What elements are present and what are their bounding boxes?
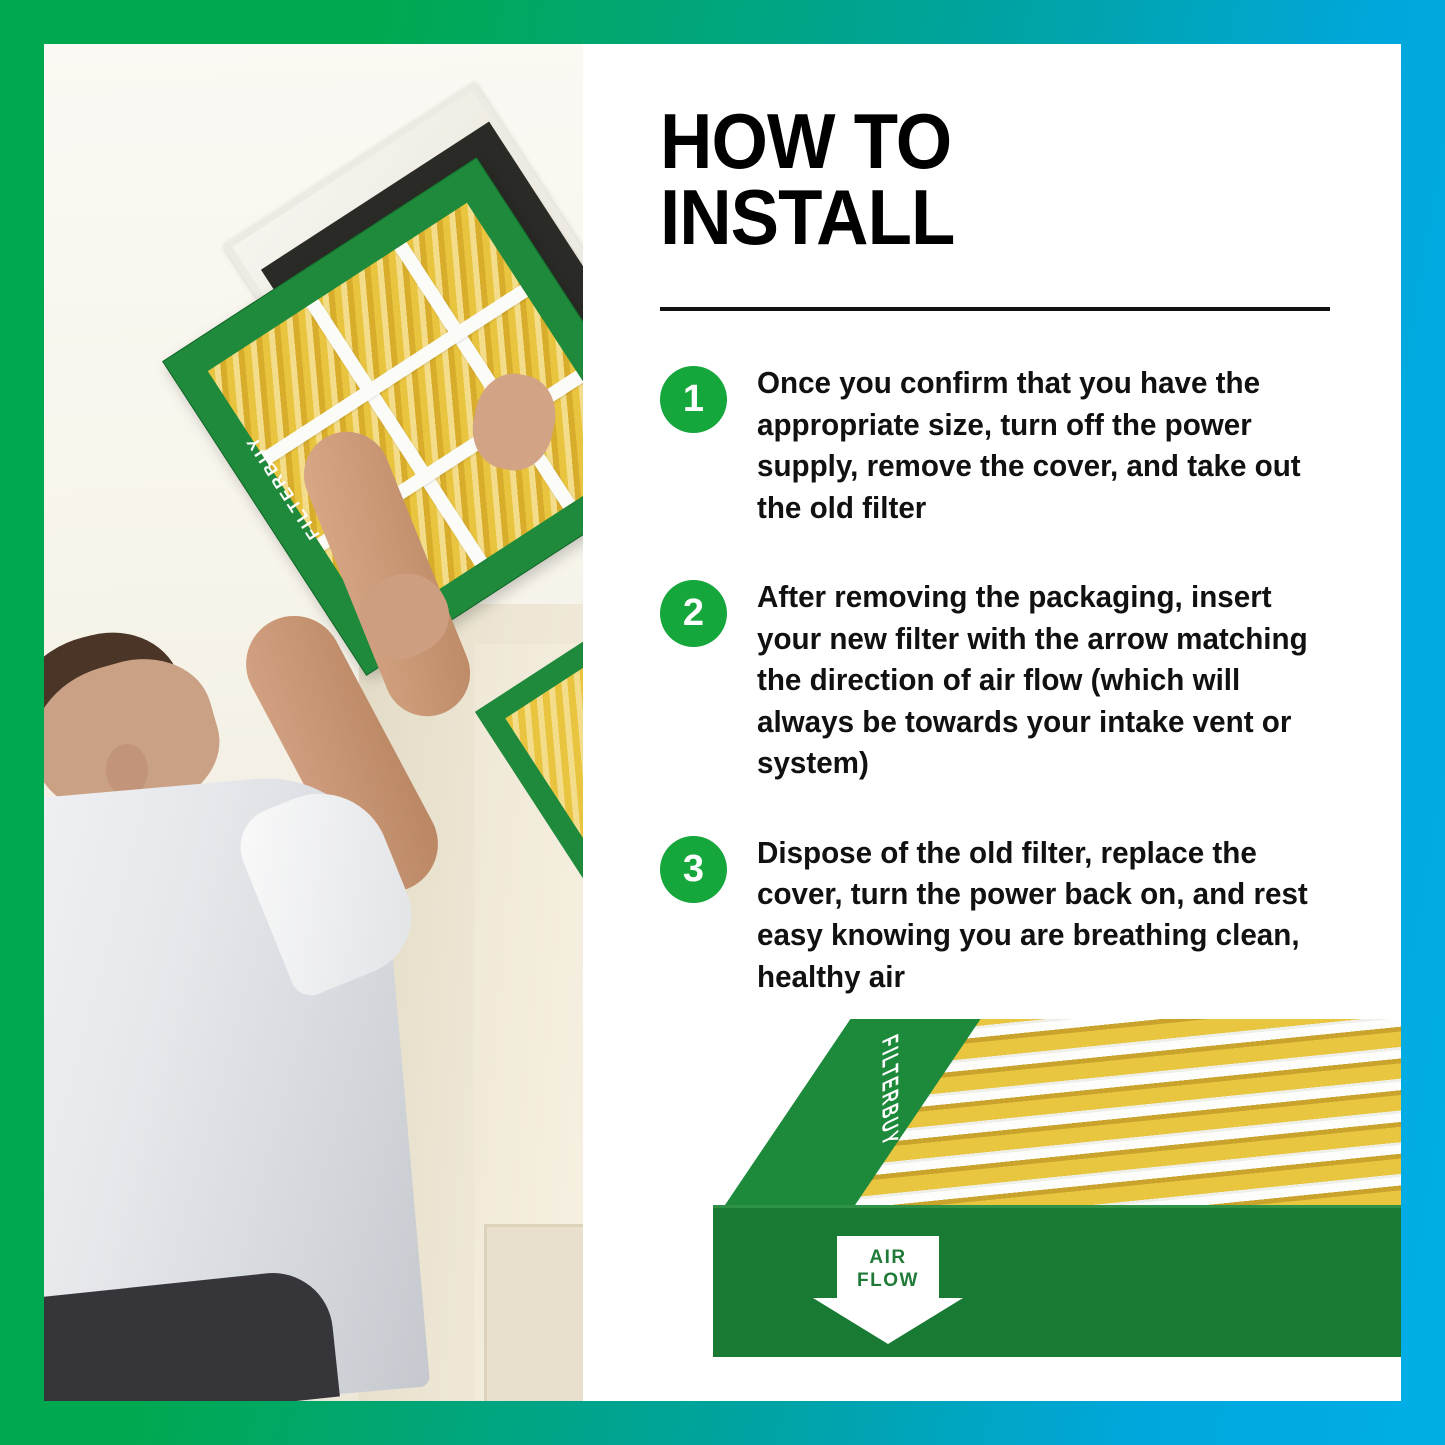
step-item-3: 3 Dispose of the old filter, replace the… — [660, 833, 1371, 999]
page-title: HOW TO INSTALL — [660, 104, 1321, 255]
step-item-2: 2 After removing the packaging, insert y… — [660, 577, 1371, 784]
step-item-1: 1 Once you confirm that you have the app… — [660, 363, 1371, 529]
step-number-badge-2: 2 — [660, 580, 727, 647]
poster-frame: FILTERBUY HOW TO INSTALL 1 Once you conf… — [0, 0, 1445, 1445]
steps-list: 1 Once you confirm that you have the app… — [660, 363, 1371, 998]
poster-canvas: FILTERBUY HOW TO INSTALL 1 Once you conf… — [44, 44, 1401, 1401]
product-front-face: AIR FLOW — [713, 1205, 1401, 1357]
photo-door — [484, 1224, 583, 1401]
step-text-2: After removing the packaging, insert you… — [757, 577, 1314, 784]
install-photo: FILTERBUY — [44, 44, 583, 1401]
step-text-3: Dispose of the old filter, replace the c… — [757, 833, 1314, 999]
step-number-badge-1: 1 — [660, 366, 727, 433]
air-flow-arrow-icon: AIR FLOW — [813, 1236, 963, 1336]
product-filter-image: FILTERBUY AIR FLOW — [689, 1019, 1401, 1359]
step-text-1: Once you confirm that you have the appro… — [757, 363, 1314, 529]
product-brand-text: FILTERBUY — [875, 1019, 902, 1177]
step-number-badge-3: 3 — [660, 836, 727, 903]
title-divider — [660, 307, 1330, 311]
air-flow-label: AIR FLOW — [837, 1246, 939, 1292]
arrow-head — [813, 1298, 963, 1344]
